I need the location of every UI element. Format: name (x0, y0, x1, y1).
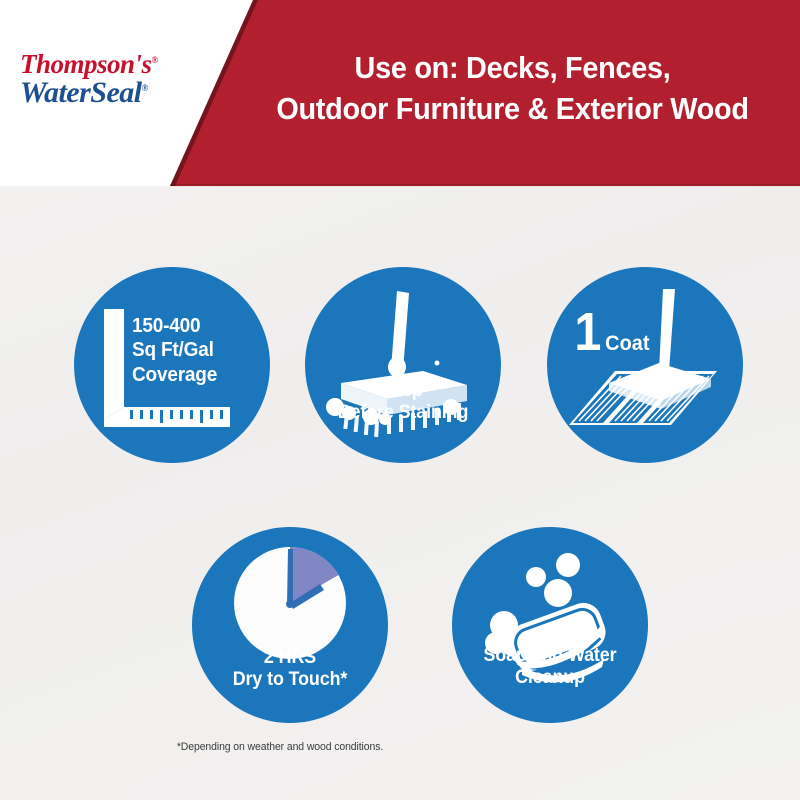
footnote-disclaimer: *Depending on weather and wood condition… (14, 741, 546, 753)
header-bottom-shadow (170, 184, 800, 187)
one-coat-label: 1 Coat (573, 305, 651, 359)
prep-caption: Prep Before Staining (311, 380, 495, 425)
deck-applicator-icon (547, 267, 743, 463)
one-coat-number: 1 (574, 305, 599, 359)
cleanup-caption: Soap and Water Cleanup (458, 645, 642, 690)
dry-time-caption: 2 HRS Dry to Touch* (198, 647, 382, 692)
feature-circle-one-coat: 1 Coat (547, 267, 743, 463)
scrub-brush-icon (305, 267, 501, 463)
soap-bar-icon (452, 527, 648, 723)
feature-circle-cleanup: Soap and Water Cleanup (452, 527, 648, 723)
coverage-value-text: 150-400 Sq Ft/Gal Coverage (132, 314, 217, 387)
logo-thompsons-text: Thompson's® (20, 52, 215, 78)
one-coat-word: Coat (605, 333, 649, 354)
logo-top-registered-mark: ® (152, 55, 158, 65)
logo-top-word: Thompson's (20, 49, 152, 79)
header-banner: Thompson's® WaterSeal® Use on: Decks, Fe… (0, 0, 800, 186)
feature-circle-dry-time: 2 HRS Dry to Touch* (192, 527, 388, 723)
clock-icon (192, 527, 388, 723)
logo-bottom-word: WaterSeal (20, 76, 142, 109)
feature-circle-prep: Prep Before Staining (305, 267, 501, 463)
infographic-poster: Thompson's® WaterSeal® Use on: Decks, Fe… (0, 0, 800, 800)
feature-circle-coverage: 150-400 Sq Ft/Gal Coverage (74, 267, 270, 463)
brand-logo: Thompson's® WaterSeal® (20, 52, 215, 107)
logo-waterseal-text: WaterSeal® (20, 79, 215, 108)
logo-bottom-registered-mark: ® (142, 83, 148, 93)
header-title: Use on: Decks, Fences, Outdoor Furniture… (259, 48, 766, 130)
